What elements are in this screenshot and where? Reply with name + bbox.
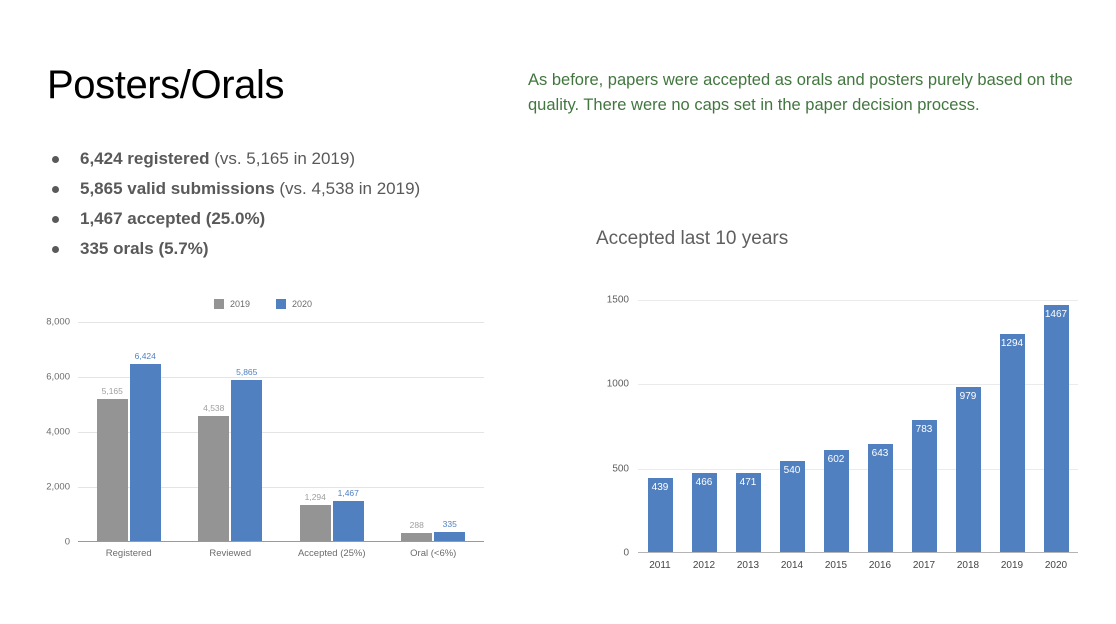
page-title: Posters/Orals xyxy=(47,62,284,108)
bar-2014: 5402014 xyxy=(780,461,805,552)
x-axis-tick-label: 2019 xyxy=(1001,560,1023,571)
x-axis-tick-label: Registered xyxy=(106,548,152,559)
x-axis-line xyxy=(78,541,484,542)
legend-swatch-icon xyxy=(276,299,286,309)
bar-2020-accepted-25-: 1,467 xyxy=(333,501,364,541)
statistics-bullet-list: 6,424 registered (vs. 5,165 in 2019)5,86… xyxy=(52,148,572,268)
bullet-item-strong: 1,467 accepted (25.0%) xyxy=(80,209,265,228)
bullet-item-rest: (vs. 5,165 in 2019) xyxy=(209,149,355,168)
bullet-item: 1,467 accepted (25.0%) xyxy=(52,208,572,230)
bar-2020: 14672020 xyxy=(1044,305,1069,552)
bar-value-label: 288 xyxy=(410,520,424,530)
gridline xyxy=(638,300,1078,301)
bar-value-label: 1467 xyxy=(1045,309,1067,320)
bullet-item-strong: 335 orals (5.7%) xyxy=(80,239,209,258)
y-axis-tick-label: 1500 xyxy=(607,295,629,306)
bullet-item: 5,865 valid submissions (vs. 4,538 in 20… xyxy=(52,178,572,200)
bar-value-label: 335 xyxy=(443,519,457,529)
y-axis-tick-label: 6,000 xyxy=(46,372,70,383)
bar-2017: 7832017 xyxy=(912,420,937,552)
x-axis-tick-label: Reviewed xyxy=(209,548,251,559)
bullet-item-label: 335 orals (5.7%) xyxy=(80,238,209,260)
bar-group: 288335Oral (<6%) xyxy=(401,322,465,541)
bar-value-label: 602 xyxy=(828,454,845,465)
bar-value-label: 1,294 xyxy=(305,492,326,502)
bar-value-label: 5,865 xyxy=(236,367,257,377)
y-axis-tick-label: 1000 xyxy=(607,379,629,390)
bar-value-label: 540 xyxy=(784,465,801,476)
bullet-item: 6,424 registered (vs. 5,165 in 2019) xyxy=(52,148,572,170)
x-axis-tick-label: 2016 xyxy=(869,560,891,571)
bullet-item-label: 6,424 registered (vs. 5,165 in 2019) xyxy=(80,148,355,170)
bar-value-label: 1294 xyxy=(1001,338,1023,349)
bar-2012: 4662012 xyxy=(692,473,717,552)
chart-legend: 20192020 xyxy=(30,296,496,312)
x-axis-tick-label: 2012 xyxy=(693,560,715,571)
bullet-item-label: 1,467 accepted (25.0%) xyxy=(80,208,265,230)
x-axis-tick-label: 2011 xyxy=(649,560,671,571)
bar-value-label: 783 xyxy=(916,424,933,435)
accepted-plot-area: 0500100015004392011466201247120135402014… xyxy=(638,300,1078,553)
y-axis-tick-label: 4,000 xyxy=(46,427,70,438)
bar-group: 5,1656,424Registered xyxy=(97,322,161,541)
chart-title: Accepted last 10 years xyxy=(596,228,788,250)
bar-2018: 9792018 xyxy=(956,387,981,552)
x-axis-tick-label: 2013 xyxy=(737,560,759,571)
x-axis-tick-label: 2015 xyxy=(825,560,847,571)
bar-2020-registered: 6,424 xyxy=(130,364,161,541)
legend-label: 2020 xyxy=(292,299,312,309)
bullet-item-strong: 6,424 registered xyxy=(80,149,209,168)
bullet-item-strong: 5,865 valid submissions xyxy=(80,179,275,198)
y-axis-tick-label: 8,000 xyxy=(46,317,70,328)
bullet-item-label: 5,865 valid submissions (vs. 4,538 in 20… xyxy=(80,178,420,200)
bar-value-label: 643 xyxy=(872,448,889,459)
legend-swatch-icon xyxy=(214,299,224,309)
legend-entry-2019: 2019 xyxy=(214,299,250,309)
decision-process-note: As before, papers were accepted as orals… xyxy=(528,68,1098,118)
y-axis-tick-label: 2,000 xyxy=(46,482,70,493)
legend-label: 2019 xyxy=(230,299,250,309)
bullet-dot-icon xyxy=(52,246,59,253)
bar-2019: 12942019 xyxy=(1000,334,1025,552)
bar-2011: 4392011 xyxy=(648,478,673,552)
bullet-dot-icon xyxy=(52,216,59,223)
bar-value-label: 466 xyxy=(696,477,713,488)
bar-2019-reviewed: 4,538 xyxy=(198,416,229,541)
bar-value-label: 979 xyxy=(960,391,977,402)
submission-funnel-chart: 20192020 02,0004,0006,0008,0005,1656,424… xyxy=(30,296,496,568)
x-axis-tick-label: 2017 xyxy=(913,560,935,571)
accepted-last-10-years-chart: Accepted last 10 years 05001000150043920… xyxy=(590,228,1090,578)
bar-2019-registered: 5,165 xyxy=(97,399,128,541)
bar-group: 4,5385,865Reviewed xyxy=(198,322,262,541)
x-axis-tick-label: Oral (<6%) xyxy=(410,548,456,559)
bar-value-label: 5,165 xyxy=(102,386,123,396)
x-axis-tick-label: 2018 xyxy=(957,560,979,571)
bar-2013: 4712013 xyxy=(736,473,761,552)
x-axis-line xyxy=(638,552,1078,553)
bar-2020-oral-6-: 335 xyxy=(434,532,465,541)
bullet-dot-icon xyxy=(52,186,59,193)
x-axis-tick-label: Accepted (25%) xyxy=(298,548,366,559)
bar-2019-oral-6-: 288 xyxy=(401,533,432,541)
y-axis-tick-label: 0 xyxy=(623,548,629,559)
bar-value-label: 1,467 xyxy=(338,488,359,498)
y-axis-tick-label: 0 xyxy=(65,537,70,548)
bullet-item: 335 orals (5.7%) xyxy=(52,238,572,260)
bar-2015: 6022015 xyxy=(824,450,849,552)
bullet-dot-icon xyxy=(52,156,59,163)
x-axis-tick-label: 2014 xyxy=(781,560,803,571)
bullet-item-rest: (vs. 4,538 in 2019) xyxy=(275,179,421,198)
bar-2020-reviewed: 5,865 xyxy=(231,380,262,541)
bar-2016: 6432016 xyxy=(868,444,893,552)
submission-funnel-plot-area: 02,0004,0006,0008,0005,1656,424Registere… xyxy=(78,322,484,542)
bar-value-label: 6,424 xyxy=(135,351,156,361)
legend-entry-2020: 2020 xyxy=(276,299,312,309)
x-axis-tick-label: 2020 xyxy=(1045,560,1067,571)
bar-value-label: 439 xyxy=(652,482,669,493)
bar-value-label: 4,538 xyxy=(203,403,224,413)
bar-group: 1,2941,467Accepted (25%) xyxy=(300,322,364,541)
y-axis-tick-label: 500 xyxy=(612,463,629,474)
bar-value-label: 471 xyxy=(740,477,757,488)
bar-2019-accepted-25-: 1,294 xyxy=(300,505,331,541)
